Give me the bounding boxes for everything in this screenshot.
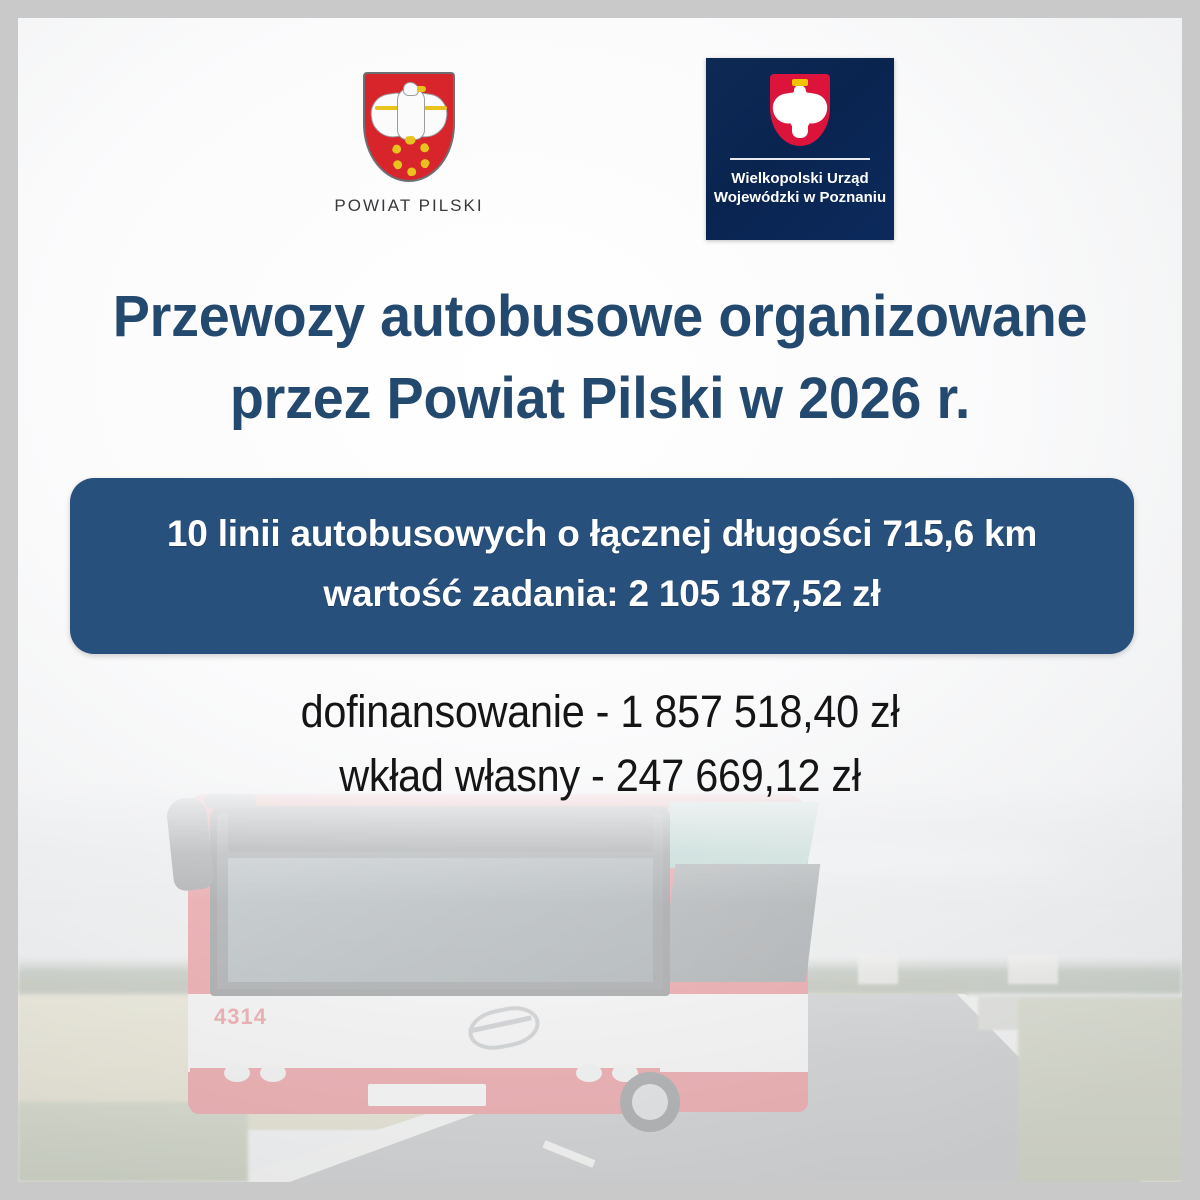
- windshield-glass: [228, 858, 653, 982]
- bus-side-windows: [661, 864, 820, 982]
- wielkopolski-urzad-wojewodzki-logo: Wielkopolski Urząd Wojewódzki w Poznaniu: [706, 58, 894, 240]
- funding-line-own-contribution: wkład własny - 247 669,12 zł: [65, 744, 1136, 808]
- eagle-crown-icon: [792, 79, 808, 86]
- banner-line-2: wartość zadania: 2 105 187,52 zł: [100, 564, 1104, 624]
- funding-details: dofinansowanie - 1 857 518,40 zł wkład w…: [18, 680, 1182, 808]
- funding-line-subsidy: dofinansowanie - 1 857 518,40 zł: [65, 680, 1136, 744]
- polish-eagle-shield-icon: [770, 74, 830, 146]
- logo-divider: [730, 158, 870, 160]
- headlamp: [576, 1064, 602, 1082]
- page-title-line-2: przez Powiat Pilski w 2026 r.: [41, 358, 1158, 440]
- solaris-bus: 4314: [168, 782, 828, 1144]
- eagle-head-icon: [794, 85, 806, 96]
- shield-icon: [363, 72, 455, 182]
- bus-fleet-number: 4314: [214, 1004, 267, 1030]
- page-title: Przewozy autobusowe organizowane przez P…: [41, 276, 1158, 441]
- oak-wreath-icon: [391, 136, 431, 176]
- wuw-logo-text: Wielkopolski Urząd Wojewódzki w Poznaniu: [706, 170, 894, 208]
- poster-canvas: 4314 POWIAT PILSKI: [18, 18, 1182, 1182]
- bus-mirror: [168, 794, 256, 902]
- mirror-glass: [165, 796, 214, 892]
- highlight-banner: 10 linii autobusowych o łącznej długości…: [70, 478, 1134, 654]
- bus-side-upper-panel: [657, 802, 820, 868]
- eagle-beak-icon: [417, 86, 426, 92]
- bus-wheel-hub: [632, 1084, 668, 1120]
- logo-row: POWIAT PILSKI Wielkopolski Urząd Wojewód…: [18, 52, 1182, 252]
- wuw-logo-line-2: Wojewódzki w Poznaniu: [706, 189, 894, 208]
- license-plate: [368, 1084, 486, 1106]
- headlamp: [224, 1064, 250, 1082]
- eagle-tail-icon: [792, 124, 808, 138]
- powiat-pilski-caption: POWIAT PILSKI: [318, 196, 500, 216]
- grass-verge-right: [1018, 998, 1182, 1182]
- headlamp: [260, 1064, 286, 1082]
- bus-on-road-photo: 4314: [18, 782, 1182, 1182]
- wuw-logo-line-1: Wielkopolski Urząd: [706, 170, 894, 189]
- destination-board: [228, 812, 653, 852]
- page-title-line-1: Przewozy autobusowe organizowane: [41, 276, 1158, 358]
- banner-line-1: 10 linii autobusowych o łącznej długości…: [100, 504, 1104, 564]
- powiat-pilski-coat-of-arms: POWIAT PILSKI: [318, 72, 500, 216]
